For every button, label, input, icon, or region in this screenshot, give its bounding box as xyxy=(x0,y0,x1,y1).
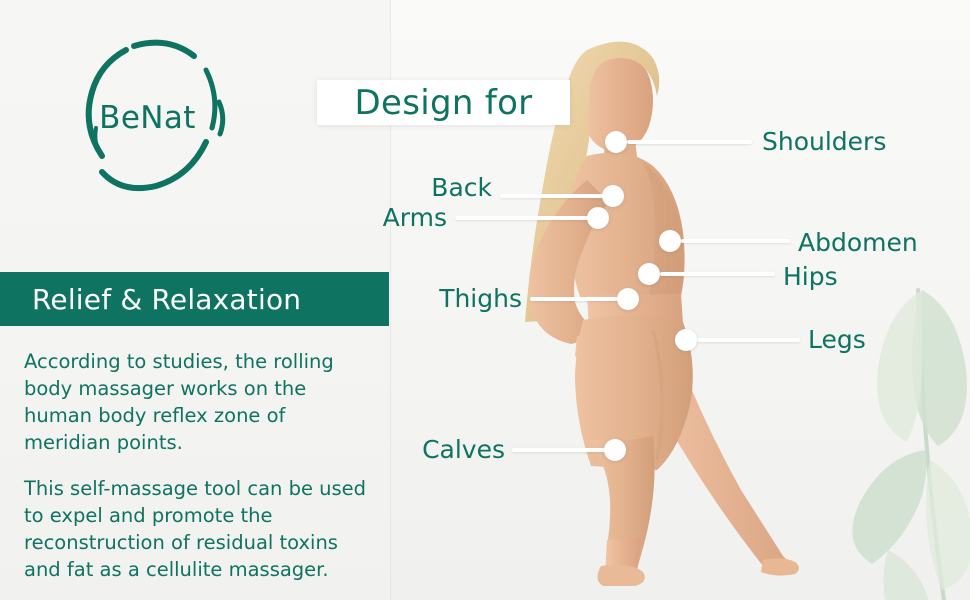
callout-label-calves: Calves xyxy=(422,437,505,462)
callout-dot-thighs xyxy=(617,288,639,310)
callout-leader-line xyxy=(512,448,615,452)
callout-dot-back xyxy=(602,185,624,207)
callout-layer: ShouldersBackArmsAbdomenHipsThighsLegsCa… xyxy=(0,0,970,600)
callout-label-shoulders: Shoulders xyxy=(762,129,886,154)
callout-leader-line xyxy=(697,338,800,342)
callout-label-abdomen: Abdomen xyxy=(798,230,918,255)
callout-label-legs: Legs xyxy=(808,327,866,352)
callout-dot-hips xyxy=(638,263,660,285)
callout-leader-line xyxy=(530,297,628,301)
callout-dot-calves xyxy=(604,439,626,461)
callout-dot-legs xyxy=(675,329,697,351)
callout-leader-line xyxy=(500,194,613,198)
callout-label-hips: Hips xyxy=(783,264,838,289)
callout-dot-arms xyxy=(587,207,609,229)
callout-dot-abdomen xyxy=(659,230,681,252)
callout-label-thighs: Thighs xyxy=(439,286,522,311)
callout-leader-line xyxy=(627,140,752,144)
callout-leader-line xyxy=(455,216,598,220)
callout-leader-line xyxy=(681,239,790,243)
callout-leader-line xyxy=(660,272,775,276)
infographic-canvas: BeNat Design for Relief & Relaxation Acc… xyxy=(0,0,970,600)
callout-label-back: Back xyxy=(431,175,492,200)
callout-label-arms: Arms xyxy=(383,205,447,230)
callout-dot-shoulders xyxy=(605,131,627,153)
